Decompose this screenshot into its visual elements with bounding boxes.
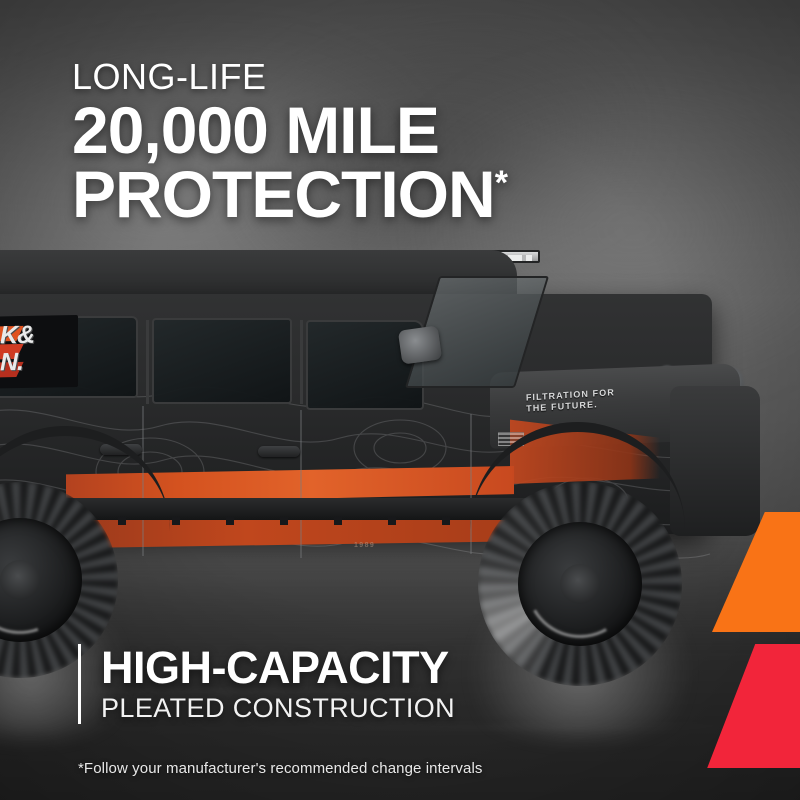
side-mirror	[398, 325, 442, 364]
headline-line-2-text: PROTECTION	[72, 157, 495, 231]
subhead-block: HIGH-CAPACITY PLEATED CONSTRUCTION	[78, 644, 455, 724]
rear-door-window	[152, 318, 292, 404]
vehicle-illustration: K& N. 1989 FILTRATION FOR THE FUTURE.	[0, 236, 770, 646]
door-handle	[258, 446, 300, 457]
door-year-decal: 1989	[354, 542, 375, 549]
kn-logo-line-1: K&	[0, 322, 34, 350]
kn-logo-badge: K& N.	[0, 315, 78, 389]
kn-logo-line-2: N.	[0, 349, 34, 377]
headline-line-1: 20,000 MILE	[72, 98, 732, 162]
headline-line-2: PROTECTION*	[72, 162, 732, 226]
kn-logo-text: K& N.	[0, 322, 34, 377]
door-seam	[300, 410, 302, 558]
window-mullion	[300, 320, 303, 404]
subhead-secondary: PLEATED CONSTRUCTION	[101, 692, 455, 724]
wheel-hub	[560, 564, 600, 604]
wheel-hub	[0, 560, 40, 600]
footnote-text: *Follow your manufacturer's recommended …	[78, 760, 482, 778]
subhead-main: HIGH-CAPACITY	[101, 644, 455, 692]
headline-asterisk: *	[495, 164, 507, 202]
front-wheel	[478, 482, 682, 686]
headline-block: LONG-LIFE 20,000 MILE PROTECTION*	[72, 56, 732, 226]
headline-eyebrow: LONG-LIFE	[72, 56, 732, 98]
rock-rail	[58, 498, 528, 520]
promo-banner: K& N. 1989 FILTRATION FOR THE FUTURE.	[0, 0, 800, 800]
window-mullion	[146, 320, 149, 404]
